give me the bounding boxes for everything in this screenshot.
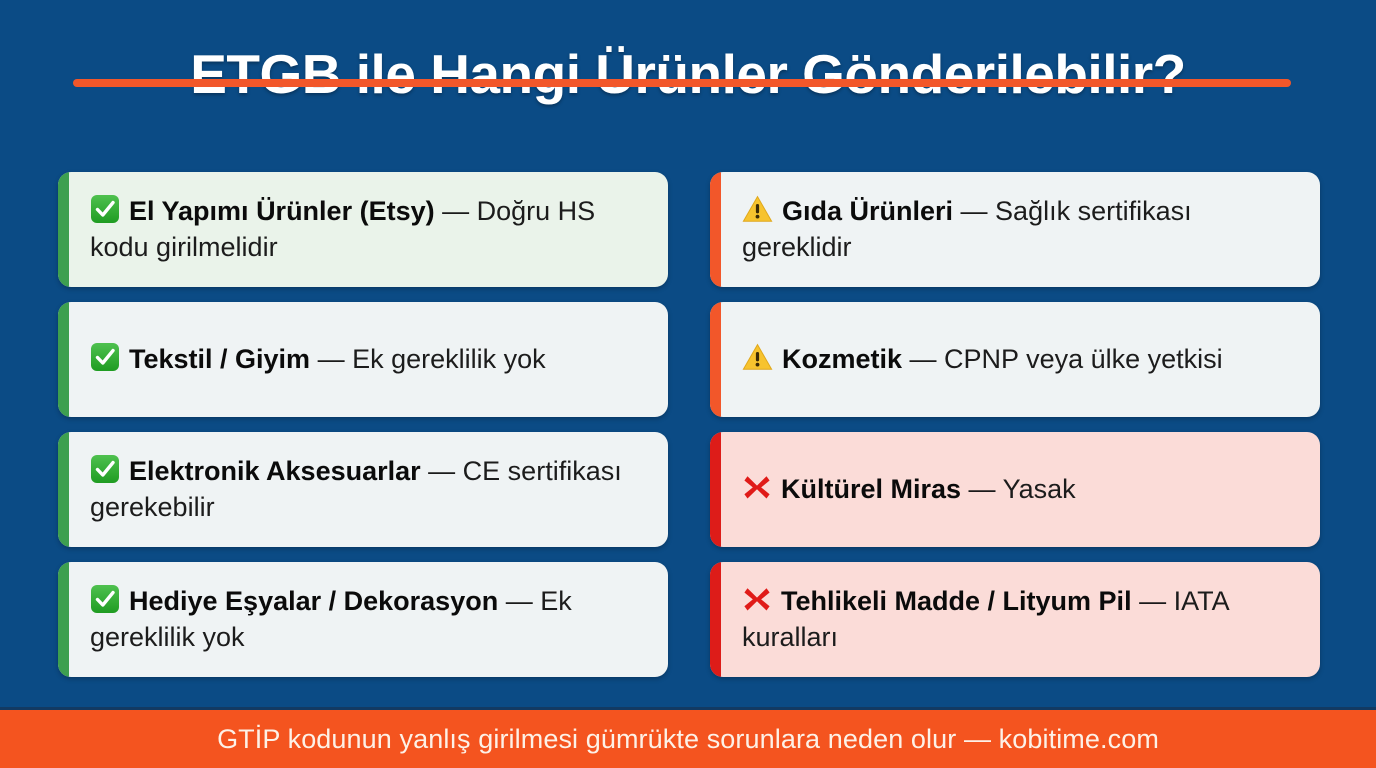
product-card-allow: Tekstil / Giyim — Ek gereklilik yok xyxy=(58,302,668,417)
card-text: Elektronik Aksesuarlar — CE sertifikası … xyxy=(90,454,646,526)
card-text: Kültürel Miras — Yasak xyxy=(742,472,1076,508)
warning-triangle-icon xyxy=(742,342,773,372)
card-text: El Yapımı Ürünler (Etsy) — Doğru HS kodu… xyxy=(90,194,646,266)
cross-mark-icon xyxy=(742,584,772,614)
check-mark-button-icon xyxy=(90,342,120,372)
card-dash: — xyxy=(310,344,352,374)
card-dash: — xyxy=(435,196,477,226)
card-dash: — xyxy=(902,344,944,374)
product-card-warn: Kozmetik — CPNP veya ülke yetkisi xyxy=(710,302,1320,417)
card-text: Kozmetik — CPNP veya ülke yetkisi xyxy=(742,342,1223,378)
card-text: Tekstil / Giyim — Ek gereklilik yok xyxy=(90,342,546,378)
card-dash: — xyxy=(953,196,995,226)
card-description: CPNP veya ülke yetkisi xyxy=(944,344,1223,374)
card-term: Kozmetik xyxy=(782,344,902,374)
cross-mark-icon xyxy=(742,472,772,502)
product-card-allow: Elektronik Aksesuarlar — CE sertifikası … xyxy=(58,432,668,547)
card-term: Kültürel Miras xyxy=(781,474,961,504)
footer-banner: GTİP kodunun yanlış girilmesi gümrükte s… xyxy=(0,707,1376,768)
card-dash: — xyxy=(961,474,1003,504)
card-text: Tehlikeli Madde / Lityum Pil — IATA kura… xyxy=(742,584,1298,656)
footer-note: GTİP kodunun yanlış girilmesi gümrükte s… xyxy=(217,724,1159,755)
warning-triangle-icon xyxy=(742,194,773,224)
page-title: ETGB ile Hangi Ürünler Gönderilebilir? xyxy=(0,46,1376,104)
title-underline-accent xyxy=(73,79,1291,87)
card-term: Elektronik Aksesuarlar xyxy=(129,456,421,486)
card-term: El Yapımı Ürünler (Etsy) xyxy=(129,196,435,226)
card-text: Hediye Eşyalar / Dekorasyon — Ek gerekli… xyxy=(90,584,646,656)
infographic-page: ETGB ile Hangi Ürünler Gönderilebilir? E… xyxy=(0,0,1376,768)
check-mark-button-icon xyxy=(90,584,120,614)
card-description: Ek gereklilik yok xyxy=(352,344,546,374)
card-term: Tehlikeli Madde / Lityum Pil xyxy=(781,586,1132,616)
card-term: Tekstil / Giyim xyxy=(129,344,310,374)
card-term: Gıda Ürünleri xyxy=(782,196,953,226)
product-card-warn: Gıda Ürünleri — Sağlık sertifikası gerek… xyxy=(710,172,1320,287)
card-dash: — xyxy=(498,586,540,616)
check-mark-button-icon xyxy=(90,454,120,484)
product-card-deny: Tehlikeli Madde / Lityum Pil — IATA kura… xyxy=(710,562,1320,677)
check-mark-button-icon xyxy=(90,194,120,224)
card-description: Yasak xyxy=(1003,474,1076,504)
card-dash: — xyxy=(421,456,463,486)
product-card-allow: El Yapımı Ürünler (Etsy) — Doğru HS kodu… xyxy=(58,172,668,287)
product-card-grid: El Yapımı Ürünler (Etsy) — Doğru HS kodu… xyxy=(58,172,1320,677)
product-card-allow: Hediye Eşyalar / Dekorasyon — Ek gerekli… xyxy=(58,562,668,677)
card-text: Gıda Ürünleri — Sağlık sertifikası gerek… xyxy=(742,194,1298,266)
card-term: Hediye Eşyalar / Dekorasyon xyxy=(129,586,498,616)
product-card-deny: Kültürel Miras — Yasak xyxy=(710,432,1320,547)
card-dash: — xyxy=(1132,586,1174,616)
title-block: ETGB ile Hangi Ürünler Gönderilebilir? xyxy=(0,46,1376,104)
